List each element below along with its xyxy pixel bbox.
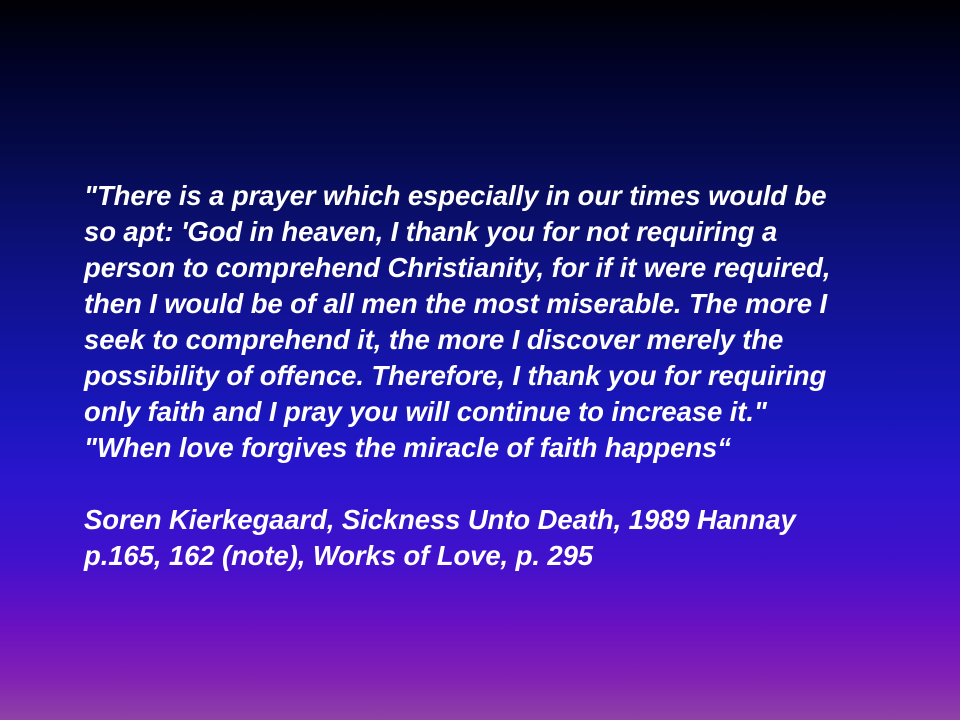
quote-line: person to comprehend Christianity, for i… — [84, 250, 884, 286]
quote-line: so apt: 'God in heaven, I thank you for … — [84, 214, 884, 250]
quote-line: "There is a prayer which especially in o… — [84, 178, 884, 214]
slide-text-block: "There is a prayer which especially in o… — [84, 178, 884, 574]
attribution-line: p.165, 162 (note), Works of Love, p. 295 — [84, 538, 884, 574]
quote-line: seek to comprehend it, the more I discov… — [84, 322, 884, 358]
quote-line: then I would be of all men the most mise… — [84, 286, 884, 322]
slide-canvas: "There is a prayer which especially in o… — [0, 0, 960, 720]
quote-line: only faith and I pray you will continue … — [84, 394, 884, 430]
quote-line: "When love forgives the miracle of faith… — [84, 430, 884, 466]
quote-line: possibility of offence. Therefore, I tha… — [84, 358, 884, 394]
paragraph-spacer — [84, 466, 884, 502]
attribution-line: Soren Kierkegaard, Sickness Unto Death, … — [84, 502, 884, 538]
